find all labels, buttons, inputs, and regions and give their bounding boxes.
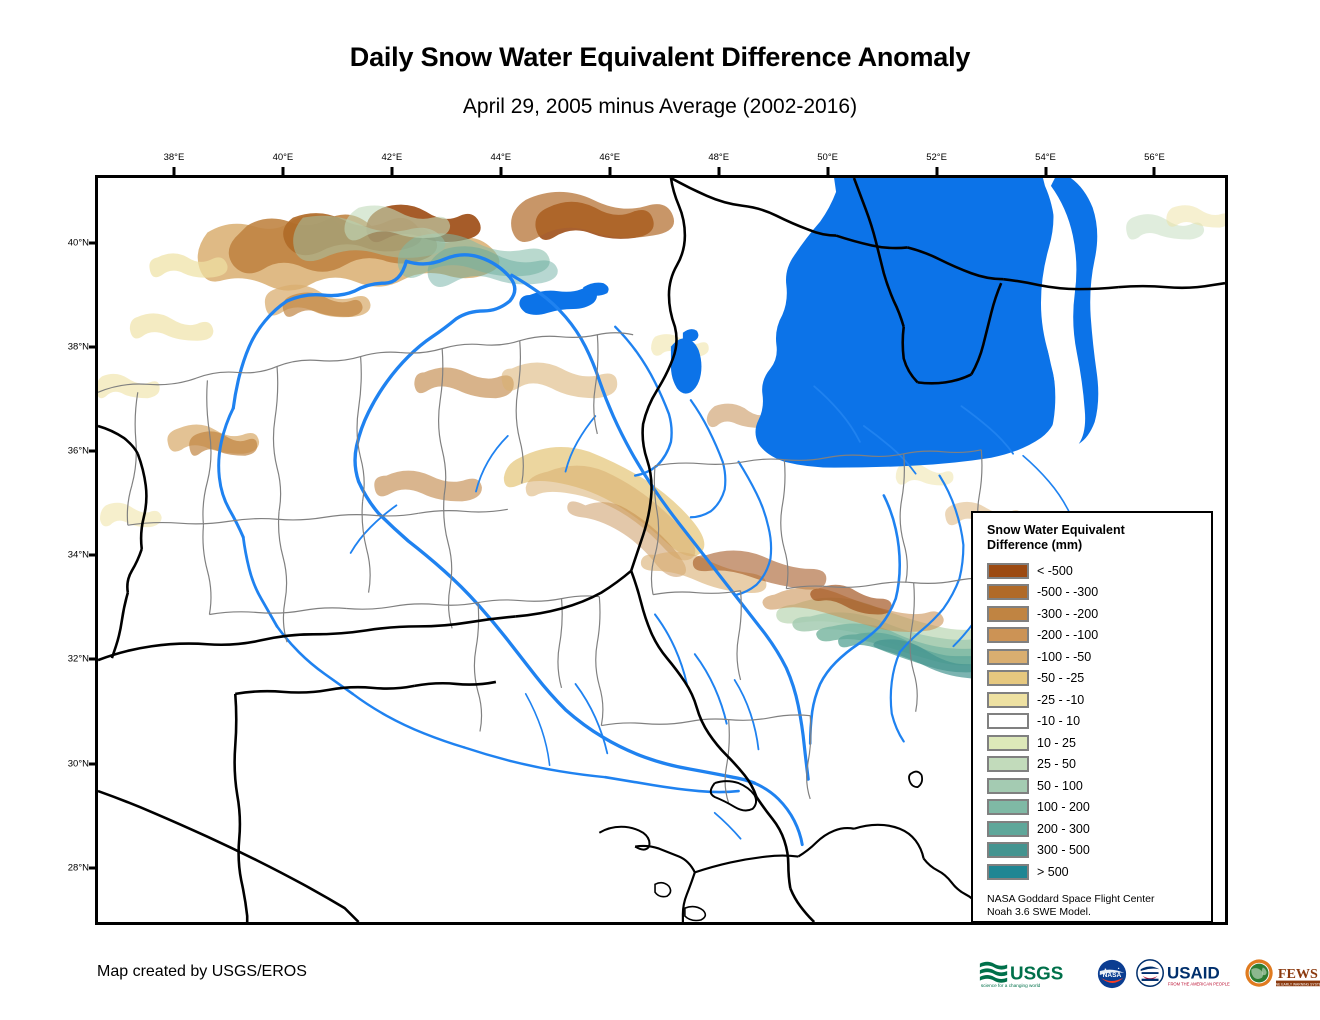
legend-swatch (987, 584, 1029, 600)
longitude-tick-mark (1153, 167, 1156, 175)
legend-row: -500 - -300 (987, 582, 1211, 604)
legend-label: -50 - -25 (1037, 671, 1084, 685)
longitude-tick-label: 44°E (490, 152, 511, 163)
legend-row: -200 - -100 (987, 625, 1211, 647)
longitude-tick-label: 38°E (164, 152, 185, 163)
map-frame[interactable]: Snow Water Equivalent Difference (mm) < … (95, 175, 1228, 925)
longitude-tick-mark (935, 167, 938, 175)
legend-label: < -500 (1037, 564, 1073, 578)
agency-logo-bar: USGS science for a changing world NASA U… (978, 957, 1320, 991)
legend-swatch (987, 692, 1029, 708)
nasa-logo: NASA (1096, 958, 1128, 990)
legend-row: 10 - 25 (987, 732, 1211, 754)
longitude-tick-mark (1044, 167, 1047, 175)
longitude-tick-label: 56°E (1144, 152, 1165, 163)
legend-class-list: < -500-500 - -300-300 - -200-200 - -100-… (987, 560, 1211, 883)
latitude-tick-label: 28°N (47, 862, 89, 873)
legend-label: > 500 (1037, 865, 1069, 879)
legend-swatch (987, 649, 1029, 665)
legend-swatch (987, 842, 1029, 858)
fewsnet-logo: FEWS FAMINE EARLY WARNING SYSTEMS NETWOR… (1244, 958, 1320, 990)
legend-source-line1: NASA Goddard Space Flight Center (987, 893, 1155, 905)
legend-label: 300 - 500 (1037, 843, 1090, 857)
legend-row: -100 - -50 (987, 646, 1211, 668)
legend-title-line1: Snow Water Equivalent (987, 523, 1125, 537)
legend-label: -300 - -200 (1037, 607, 1098, 621)
svg-text:FROM THE AMERICAN PEOPLE: FROM THE AMERICAN PEOPLE (1168, 981, 1230, 986)
legend-row: -25 - -10 (987, 689, 1211, 711)
legend-label: -25 - -10 (1037, 693, 1084, 707)
legend-swatch (987, 606, 1029, 622)
latitude-tick-mark (89, 866, 97, 869)
legend-swatch (987, 735, 1029, 751)
legend-title: Snow Water Equivalent Difference (mm) (987, 523, 1172, 553)
legend-row: -10 - 10 (987, 711, 1211, 733)
title-block: Daily Snow Water Equivalent Difference A… (0, 0, 1320, 119)
legend-row: > 500 (987, 861, 1211, 883)
svg-text:FAMINE EARLY WARNING SYSTEMS N: FAMINE EARLY WARNING SYSTEMS NETWORK (1267, 982, 1320, 986)
latitude-tick-label: 32°N (47, 654, 89, 665)
longitude-tick-mark (390, 167, 393, 175)
legend-swatch (987, 627, 1029, 643)
longitude-tick-label: 54°E (1035, 152, 1056, 163)
legend-swatch (987, 778, 1029, 794)
latitude-tick-mark (89, 241, 97, 244)
longitude-tick-label: 48°E (708, 152, 729, 163)
svg-text:science for a changing world: science for a changing world (981, 983, 1041, 988)
legend-label: -100 - -50 (1037, 650, 1091, 664)
latitude-tick-label: 38°N (47, 341, 89, 352)
legend-label: 200 - 300 (1037, 822, 1090, 836)
latitude-tick-label: 36°N (47, 446, 89, 457)
longitude-tick-mark (717, 167, 720, 175)
map-legend: Snow Water Equivalent Difference (mm) < … (971, 511, 1213, 923)
legend-swatch (987, 670, 1029, 686)
latitude-tick-label: 34°N (47, 550, 89, 561)
legend-swatch (987, 563, 1029, 579)
latitude-tick-mark (89, 554, 97, 557)
longitude-tick-label: 46°E (599, 152, 620, 163)
legend-title-line2: Difference (mm) (987, 538, 1082, 552)
page-title: Daily Snow Water Equivalent Difference A… (0, 42, 1320, 73)
latitude-tick-label: 40°N (47, 237, 89, 248)
svg-text:USGS: USGS (1010, 963, 1063, 984)
latitude-tick-mark (89, 345, 97, 348)
map-credit: Map created by USGS/EROS (97, 963, 307, 981)
latitude-tick-mark (89, 450, 97, 453)
legend-label: 100 - 200 (1037, 800, 1090, 814)
longitude-tick-label: 50°E (817, 152, 838, 163)
legend-label: -10 - 10 (1037, 714, 1080, 728)
svg-text:USAID: USAID (1167, 964, 1220, 983)
svg-text:NASA: NASA (1103, 972, 1122, 979)
legend-row: 200 - 300 (987, 818, 1211, 840)
legend-row: < -500 (987, 560, 1211, 582)
longitude-tick-mark (281, 167, 284, 175)
legend-swatch (987, 864, 1029, 880)
legend-label: -200 - -100 (1037, 628, 1098, 642)
legend-source-note: NASA Goddard Space Flight Center Noah 3.… (987, 893, 1197, 919)
longitude-tick-mark (608, 167, 611, 175)
legend-swatch (987, 821, 1029, 837)
usgs-logo: USGS science for a changing world (978, 958, 1089, 990)
legend-swatch (987, 713, 1029, 729)
svg-text:FEWS: FEWS (1278, 966, 1318, 982)
legend-row: -50 - -25 (987, 668, 1211, 690)
legend-swatch (987, 799, 1029, 815)
usaid-logo: USAID FROM THE AMERICAN PEOPLE (1135, 958, 1237, 990)
legend-source-line2: Noah 3.6 SWE Model. (987, 906, 1091, 918)
page-subtitle: April 29, 2005 minus Average (2002-2016) (0, 95, 1320, 119)
longitude-tick-mark (172, 167, 175, 175)
legend-label: -500 - -300 (1037, 585, 1098, 599)
longitude-tick-mark (826, 167, 829, 175)
latitude-tick-label: 30°N (47, 758, 89, 769)
latitude-tick-mark (89, 762, 97, 765)
legend-row: 50 - 100 (987, 775, 1211, 797)
longitude-tick-mark (499, 167, 502, 175)
legend-label: 10 - 25 (1037, 736, 1076, 750)
legend-row: -300 - -200 (987, 603, 1211, 625)
legend-row: 100 - 200 (987, 797, 1211, 819)
legend-row: 300 - 500 (987, 840, 1211, 862)
longitude-tick-label: 40°E (273, 152, 294, 163)
legend-label: 25 - 50 (1037, 757, 1076, 771)
longitude-tick-label: 52°E (926, 152, 947, 163)
longitude-tick-label: 42°E (382, 152, 403, 163)
legend-swatch (987, 756, 1029, 772)
latitude-tick-mark (89, 658, 97, 661)
legend-label: 50 - 100 (1037, 779, 1083, 793)
legend-row: 25 - 50 (987, 754, 1211, 776)
